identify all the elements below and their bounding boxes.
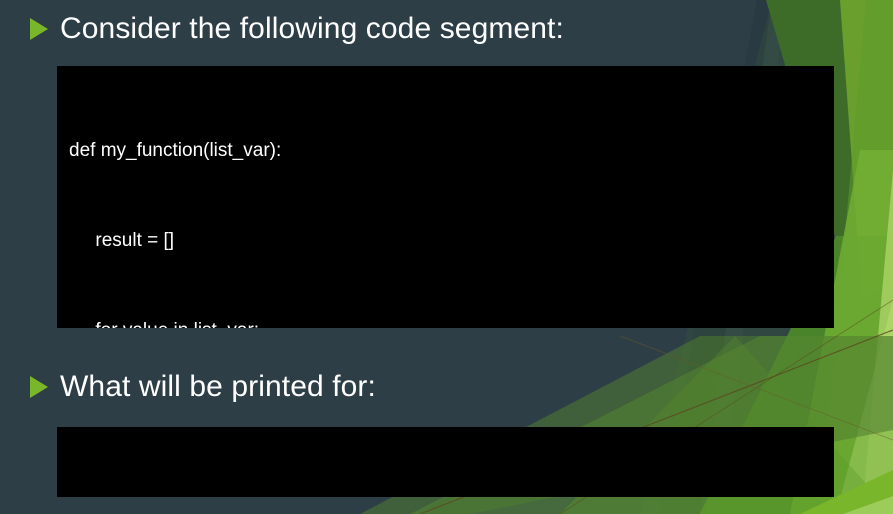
code-line: my_list = [3, -1, 0, 5, 5, 3]: [69, 491, 822, 497]
slide-canvas: Consider the following code segment: def…: [0, 0, 893, 514]
code-line: def my_function(list_var):: [69, 136, 822, 166]
bullet-label-1: Consider the following code segment:: [60, 12, 564, 46]
triangle-bullet-icon: [30, 18, 48, 40]
function-definition-code-block: def my_function(list_var): result = [] f…: [57, 66, 834, 328]
invocation-code-block: my_list = [3, -1, 0, 5, 5, 3] print(my_f…: [57, 427, 834, 497]
bullet-item-1: Consider the following code segment:: [30, 12, 564, 46]
code-line: result = []: [69, 226, 822, 256]
code-line: for value in list_var:: [69, 316, 822, 328]
bullet-item-2: What will be printed for:: [30, 370, 376, 404]
triangle-bullet-icon: [30, 376, 48, 398]
bullet-label-2: What will be printed for:: [60, 370, 376, 404]
